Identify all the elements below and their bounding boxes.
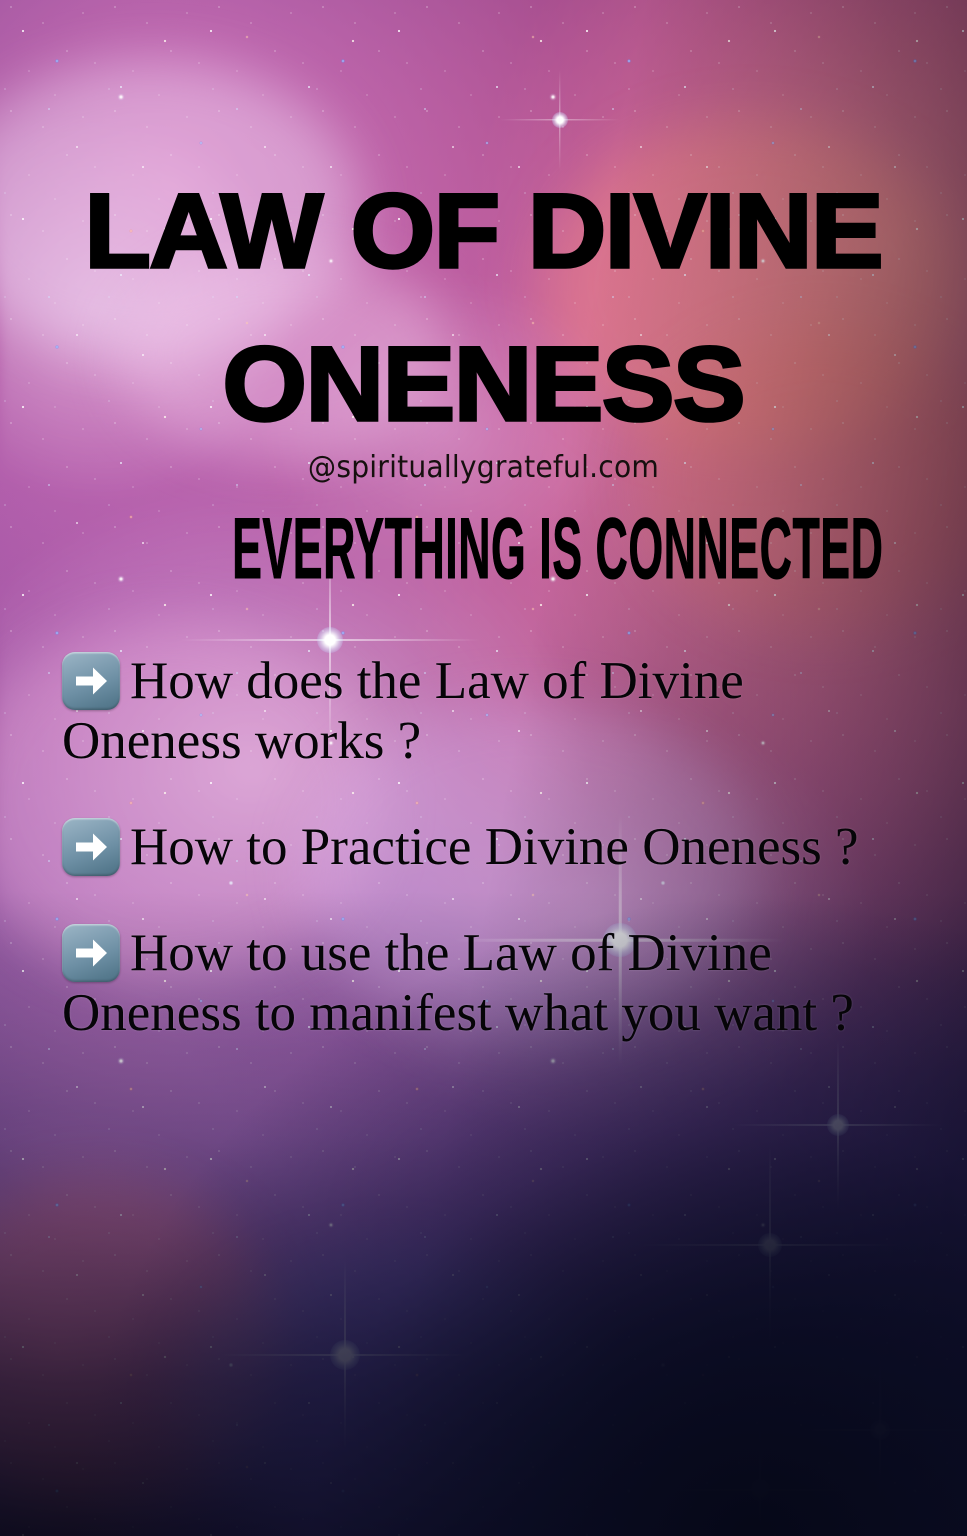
- list-item-label: How to Practice Divine Oneness ?: [130, 818, 859, 876]
- bullet-list: How does the Law of Divine Oneness works…: [62, 652, 927, 1089]
- list-item: How does the Law of Divine Oneness works…: [62, 652, 927, 772]
- list-item-label: How to use the Law of Divine Oneness to …: [62, 924, 854, 1042]
- poster-canvas: LAW OF DIVINE ONENESS @spirituallygratef…: [0, 0, 967, 1536]
- site-watermark: @spirituallygrateful.com: [29, 450, 938, 485]
- right-arrow-icon: [62, 818, 120, 876]
- poster-content: LAW OF DIVINE ONENESS @spirituallygratef…: [0, 0, 967, 1536]
- poster-title-line-2: ONENESS: [0, 335, 967, 436]
- right-arrow-icon: [62, 652, 120, 710]
- title-block: LAW OF DIVINE ONENESS: [0, 182, 967, 436]
- list-item: How to Practice Divine Oneness ?: [62, 818, 927, 878]
- poster-title-line-1: LAW OF DIVINE: [0, 182, 967, 283]
- right-arrow-icon: [62, 924, 120, 982]
- list-item-label: How does the Law of Divine Oneness works…: [62, 652, 744, 770]
- poster-subtitle: EVERYTHING IS CONNECTED: [232, 500, 735, 599]
- list-item: How to use the Law of Divine Oneness to …: [62, 924, 927, 1044]
